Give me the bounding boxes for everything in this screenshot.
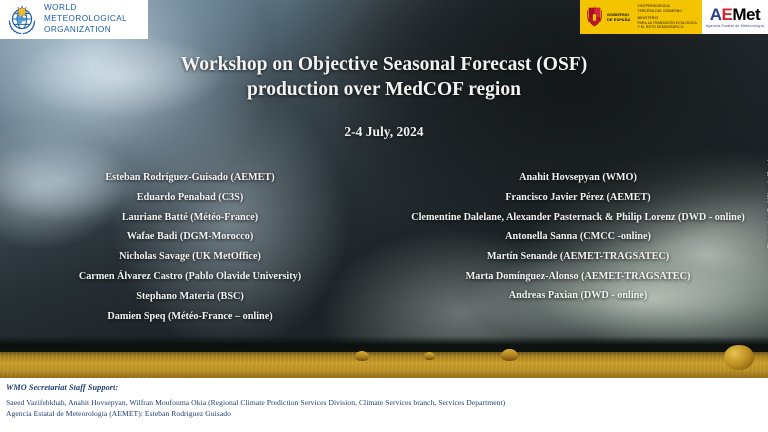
wmo-line-3: ORGANIZATION bbox=[44, 25, 127, 36]
wmo-line-1: WORLD bbox=[44, 3, 127, 14]
slide-title-line1: Workshop on Objective Seasonal Forecast … bbox=[0, 52, 768, 77]
participant-name: Damien Speq (Météo-France – online) bbox=[10, 311, 370, 322]
participant-name: Clementine Dalelane, Alexander Pasternac… bbox=[398, 212, 758, 224]
participant-name: Wafae Badi (DGM-Morocco) bbox=[10, 231, 370, 242]
participant-name: Stephano Materia (BSC) bbox=[10, 291, 370, 302]
participant-columns: Esteban Rodríguez-Guisado (AEMET) Eduard… bbox=[0, 172, 768, 331]
spanish-coat-of-arms-icon bbox=[586, 6, 603, 28]
hay-bale bbox=[501, 349, 518, 361]
participant-name: Francisco Javier Pérez (AEMET) bbox=[398, 192, 758, 203]
participant-name: Andreas Paxian (DWD - online) bbox=[398, 290, 758, 301]
wmo-line-2: METEOROLOGICAL bbox=[44, 14, 127, 25]
participant-column-left: Esteban Rodríguez-Guisado (AEMET) Eduard… bbox=[0, 172, 384, 331]
participant-name: Antonella Sanna (CMCC -online) bbox=[398, 231, 758, 242]
ministry-line5: Y EL RETO DEMOGRÁFICO bbox=[637, 25, 696, 30]
participant-name: Carmen Álvarez Castro (Pablo Olavide Uni… bbox=[10, 271, 370, 282]
aemet-logo: AEMet Agencia Estatal de Meteorología bbox=[702, 0, 768, 34]
hay-bale bbox=[424, 352, 435, 360]
aemet-mark-met: Met bbox=[732, 6, 760, 23]
hay-bale bbox=[355, 351, 369, 361]
participant-name: Esteban Rodríguez-Guisado (AEMET) bbox=[10, 172, 370, 183]
aemet-mark-a: A bbox=[710, 6, 722, 23]
photo-credit: Photographer: Emil Vilamala (Spain) Loca… bbox=[722, 248, 766, 378]
footer-line-2: Agencia Estatal de Meteorologia (AEMET):… bbox=[6, 408, 768, 420]
participant-column-right: Anahit Hovsepyan (WMO) Francisco Javier … bbox=[384, 172, 768, 331]
wmo-logo-band: WORLD METEOROLOGICAL ORGANIZATION bbox=[0, 0, 148, 39]
slide-title: Workshop on Objective Seasonal Forecast … bbox=[0, 52, 768, 103]
participant-name: Martín Senande (AEMET-TRAGSATEC) bbox=[398, 251, 758, 262]
gobierno-de-espana-logo: GOBIERNO DE ESPAÑA VICEPRESIDENCIA TERCE… bbox=[580, 0, 702, 34]
aemet-mark-e: E bbox=[722, 6, 733, 23]
wmo-globe-icon bbox=[5, 3, 39, 37]
ministry-label: VICEPRESIDENCIA TERCERA DEL GOBIERNO MIN… bbox=[634, 4, 696, 29]
aemet-wordmark: AEMet bbox=[710, 6, 760, 23]
footer-line-1: Saeed Vazifehkhah, Anahit Hovsepyan, Wil… bbox=[6, 397, 768, 409]
presentation-slide: WORLD METEOROLOGICAL ORGANIZATION GOBIER… bbox=[0, 0, 768, 432]
slide-date: 2-4 July, 2024 bbox=[0, 124, 768, 140]
sponsor-logo-band: GOBIERNO DE ESPAÑA VICEPRESIDENCIA TERCE… bbox=[580, 0, 768, 34]
aemet-subtitle: Agencia Estatal de Meteorología bbox=[706, 24, 764, 28]
participant-name: Lauriane Batté (Météo-France) bbox=[10, 212, 370, 223]
gobierno-label-line2: DE ESPAÑA bbox=[607, 17, 631, 22]
footer-heading: WMO Secretariat Staff Support: bbox=[6, 383, 768, 392]
gobierno-label: GOBIERNO DE ESPAÑA bbox=[607, 12, 631, 22]
participant-name: Anahit Hovsepyan (WMO) bbox=[398, 172, 758, 183]
wmo-wordmark: WORLD METEOROLOGICAL ORGANIZATION bbox=[44, 3, 127, 35]
participant-name: Marta Domínguez-Alonso (AEMET-TRAGSATEC) bbox=[398, 271, 758, 282]
footer: WMO Secretariat Staff Support: Saeed Vaz… bbox=[0, 378, 768, 432]
participant-name: Nicholas Savage (UK MetOffice) bbox=[10, 251, 370, 262]
slide-title-line2: production over MedCOF region bbox=[0, 77, 768, 102]
participant-name: Eduardo Penabad (C3S) bbox=[10, 192, 370, 203]
ministry-line2: TERCERA DEL GOBIERNO bbox=[637, 9, 696, 14]
field-texture bbox=[0, 352, 768, 378]
